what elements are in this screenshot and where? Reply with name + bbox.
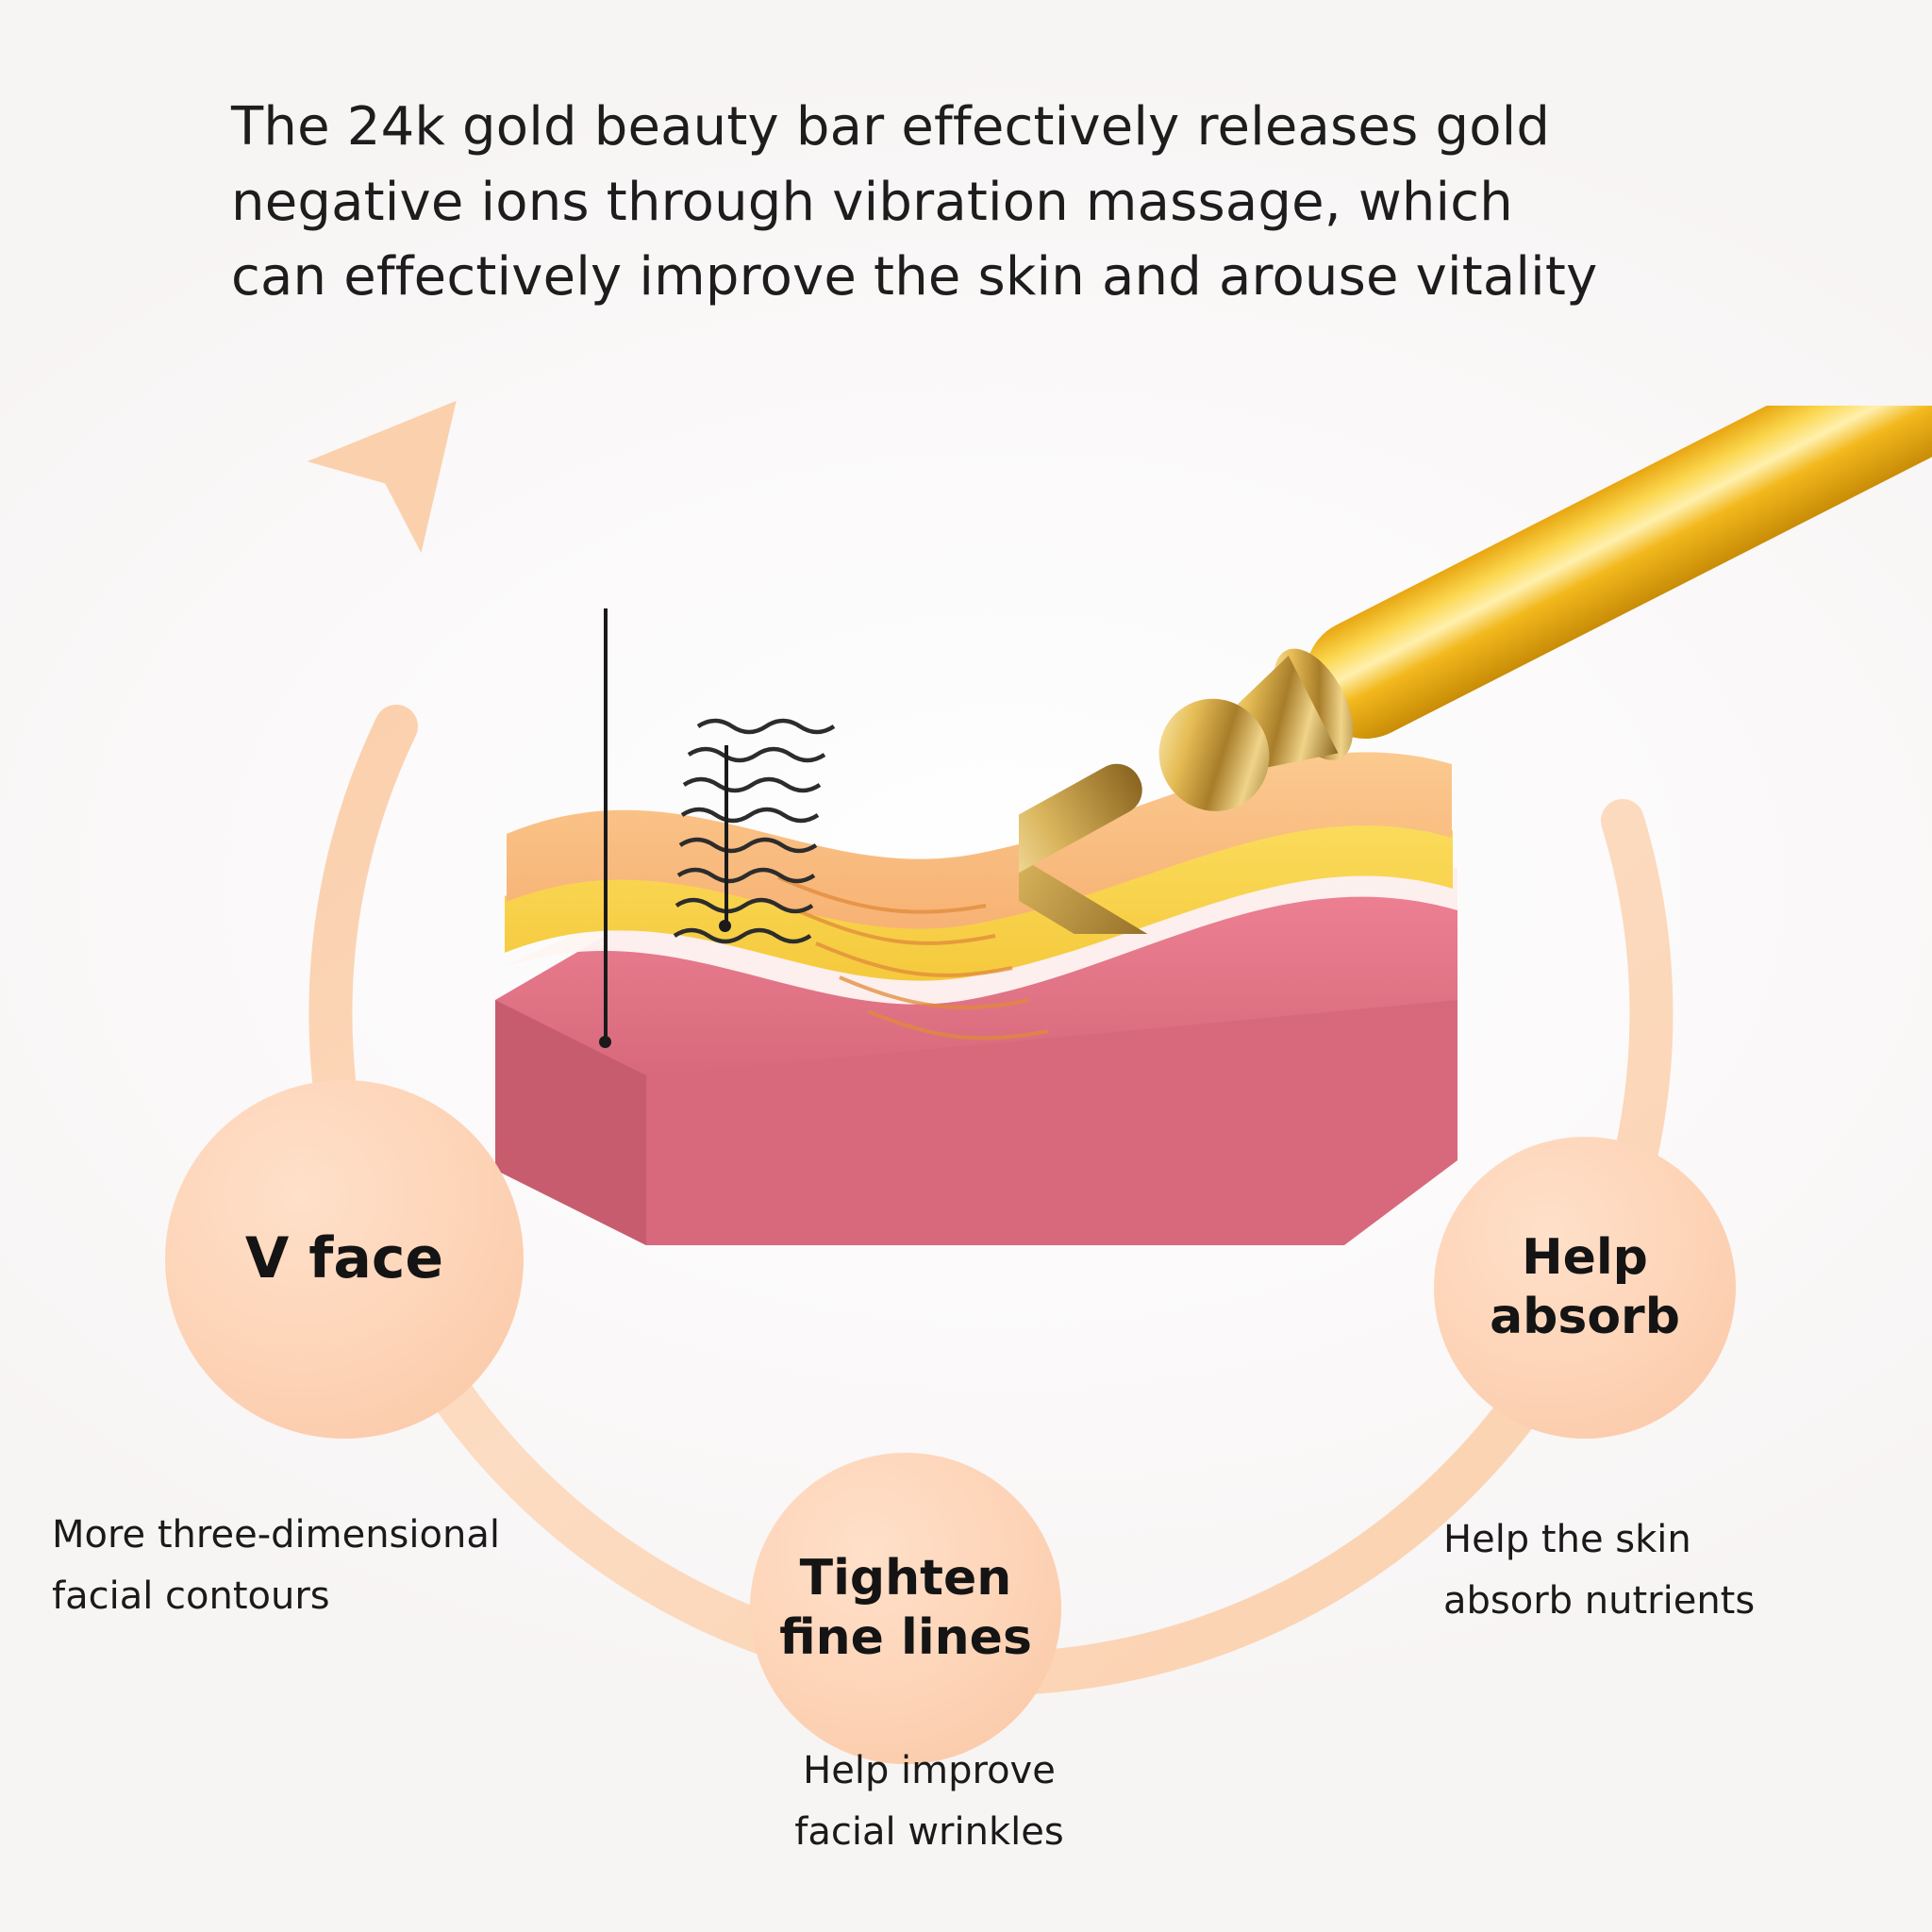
benefit-bubble-v-face[interactable]: V face xyxy=(165,1080,524,1439)
leader-line-epidermis xyxy=(604,608,608,1042)
benefit-caption-v-face: More three-dimensional facial contours xyxy=(52,1505,656,1627)
page-title: The 24k gold beauty bar effectively rele… xyxy=(231,90,1778,315)
caption-line-2: facial wrinkles xyxy=(731,1802,1127,1863)
benefit-bubble-label-line-1: Tighten xyxy=(800,1550,1012,1607)
benefit-bubble-label: Tighten fine lines xyxy=(779,1549,1032,1669)
caption-line-1: Help the skin xyxy=(1443,1509,1887,1571)
caption-line-1: More three-dimensional xyxy=(52,1505,656,1566)
benefit-caption-help-absorb: Help the skin absorb nutrients xyxy=(1443,1509,1887,1632)
gold-beauty-bar xyxy=(1019,406,1932,934)
headline-line-2: negative ions through vibration massage,… xyxy=(231,165,1778,241)
poster-canvas: The 24k gold beauty bar effectively rele… xyxy=(0,0,1932,1932)
benefit-bubble-label-line-2: absorb xyxy=(1490,1289,1680,1345)
benefit-bubble-label: Help absorb xyxy=(1490,1228,1680,1348)
headline-line-1: The 24k gold beauty bar effectively rele… xyxy=(231,90,1778,165)
leader-line-dermis xyxy=(724,745,728,924)
benefit-bubble-label-line-1: Help xyxy=(1522,1229,1648,1286)
benefit-caption-tighten-fine-lines: Help improve facial wrinkles xyxy=(731,1740,1127,1863)
caption-line-2: facial contours xyxy=(52,1566,656,1627)
benefit-bubble-label-line-2: fine lines xyxy=(779,1609,1032,1666)
leader-dot-dermis xyxy=(719,920,731,932)
caption-line-2: absorb nutrients xyxy=(1443,1571,1887,1632)
headline-line-3: can effectively improve the skin and aro… xyxy=(231,240,1778,315)
caption-line-1: Help improve xyxy=(731,1740,1127,1802)
benefit-bubble-help-absorb[interactable]: Help absorb xyxy=(1434,1137,1736,1439)
leader-dot-epidermis xyxy=(599,1036,611,1048)
benefit-bubble-tighten-fine-lines[interactable]: Tighten fine lines xyxy=(750,1453,1061,1764)
benefit-bubble-label: V face xyxy=(245,1224,443,1293)
